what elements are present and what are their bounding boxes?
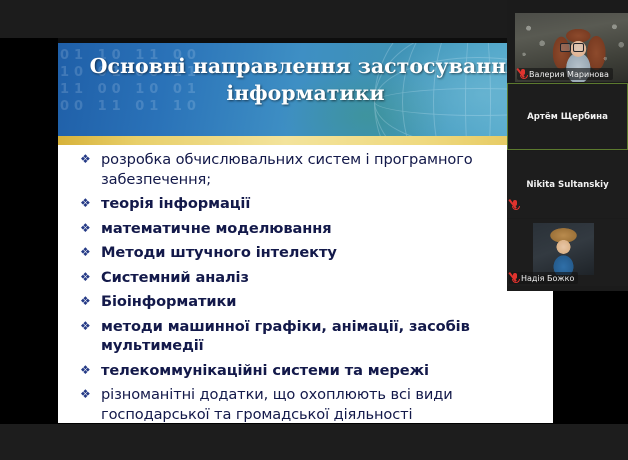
list-item-text: математичне моделювання <box>101 220 332 237</box>
list-item-text: Методи штучного інтелекту <box>101 244 337 261</box>
diamond-bullet-icon <box>80 153 92 165</box>
list-item: Біоінформатики <box>79 292 541 312</box>
list-item: розробка обчислювальних систем і програм… <box>79 150 541 189</box>
list-item-text: Біоінформатики <box>101 293 236 310</box>
diamond-bullet-icon <box>80 222 92 234</box>
participant-filmstrip[interactable]: Валерия Маринова Артём Щербина Nikita Su… <box>507 0 628 291</box>
mic-muted-icon <box>511 200 518 210</box>
diamond-bullet-icon <box>80 271 92 283</box>
participant-tile-active-speaker[interactable]: Артём Щербина <box>507 83 628 150</box>
participant-tile[interactable]: Валерия Маринова <box>515 13 628 82</box>
list-item-text: розробка обчислювальних систем і програм… <box>101 151 473 188</box>
slide-bullet-list: розробка обчислювальних систем і програм… <box>79 150 541 423</box>
list-item: математичне моделювання <box>79 219 541 239</box>
diamond-bullet-icon <box>80 246 92 258</box>
list-item: різноманітні додатки, що охоплюють всі в… <box>79 385 541 423</box>
eyeglasses <box>560 43 584 50</box>
list-item-text: Системний аналіз <box>101 269 249 286</box>
list-item-text: різноманітні додатки, що охоплюють всі в… <box>101 386 453 423</box>
slide-title-line-2: інформатики <box>58 80 553 107</box>
participant-name-chip: Валерия Маринова <box>517 68 613 80</box>
shared-presentation-slide[interactable]: 01 10 11 00 10 01 00 11 11 00 10 01 00 1… <box>58 38 553 423</box>
mic-muted-icon <box>511 273 518 283</box>
list-item: Методи штучного інтелекту <box>79 243 541 263</box>
list-item: методи машинної графіки, анімації, засоб… <box>79 317 541 356</box>
list-item-text: методи машинної графіки, анімації, засоб… <box>101 318 470 355</box>
diamond-bullet-icon <box>80 364 92 376</box>
participant-name: Nikita Sultanskiy <box>507 180 628 190</box>
list-item: теорія інформації <box>79 194 541 214</box>
slide-title: Основні направлення застосування інформа… <box>58 53 553 107</box>
participant-tile[interactable]: Nikita Sultanskiy <box>507 151 628 218</box>
window-bottom-bar <box>0 424 628 460</box>
participant-name: Надія Божко <box>521 274 574 283</box>
participant-name-chip: Надія Божко <box>509 272 578 284</box>
slide-title-banner: 01 10 11 00 10 01 00 11 11 00 10 01 00 1… <box>58 43 553 136</box>
participant-name: Валерия Маринова <box>529 70 609 79</box>
participant-name: Артём Щербина <box>508 112 627 122</box>
diamond-bullet-icon <box>80 388 92 400</box>
list-item: телекоммунікаційні системи та мережі <box>79 361 541 381</box>
participant-video-feed <box>533 223 594 275</box>
list-item-text: телекоммунікаційні системи та мережі <box>101 362 429 379</box>
diamond-bullet-icon <box>80 320 92 332</box>
list-item: Системний аналіз <box>79 268 541 288</box>
slide-title-line-1: Основні направлення застосування <box>58 53 553 80</box>
mic-muted-icon <box>519 69 526 79</box>
screen-share-meeting-window: 01 10 11 00 10 01 00 11 11 00 10 01 00 1… <box>0 0 628 460</box>
slide-gold-divider <box>58 136 553 145</box>
list-item-text: теорія інформації <box>101 195 250 212</box>
participant-tile[interactable]: Надія Божко <box>507 219 628 286</box>
diamond-bullet-icon <box>80 295 92 307</box>
diamond-bullet-icon <box>80 197 92 209</box>
